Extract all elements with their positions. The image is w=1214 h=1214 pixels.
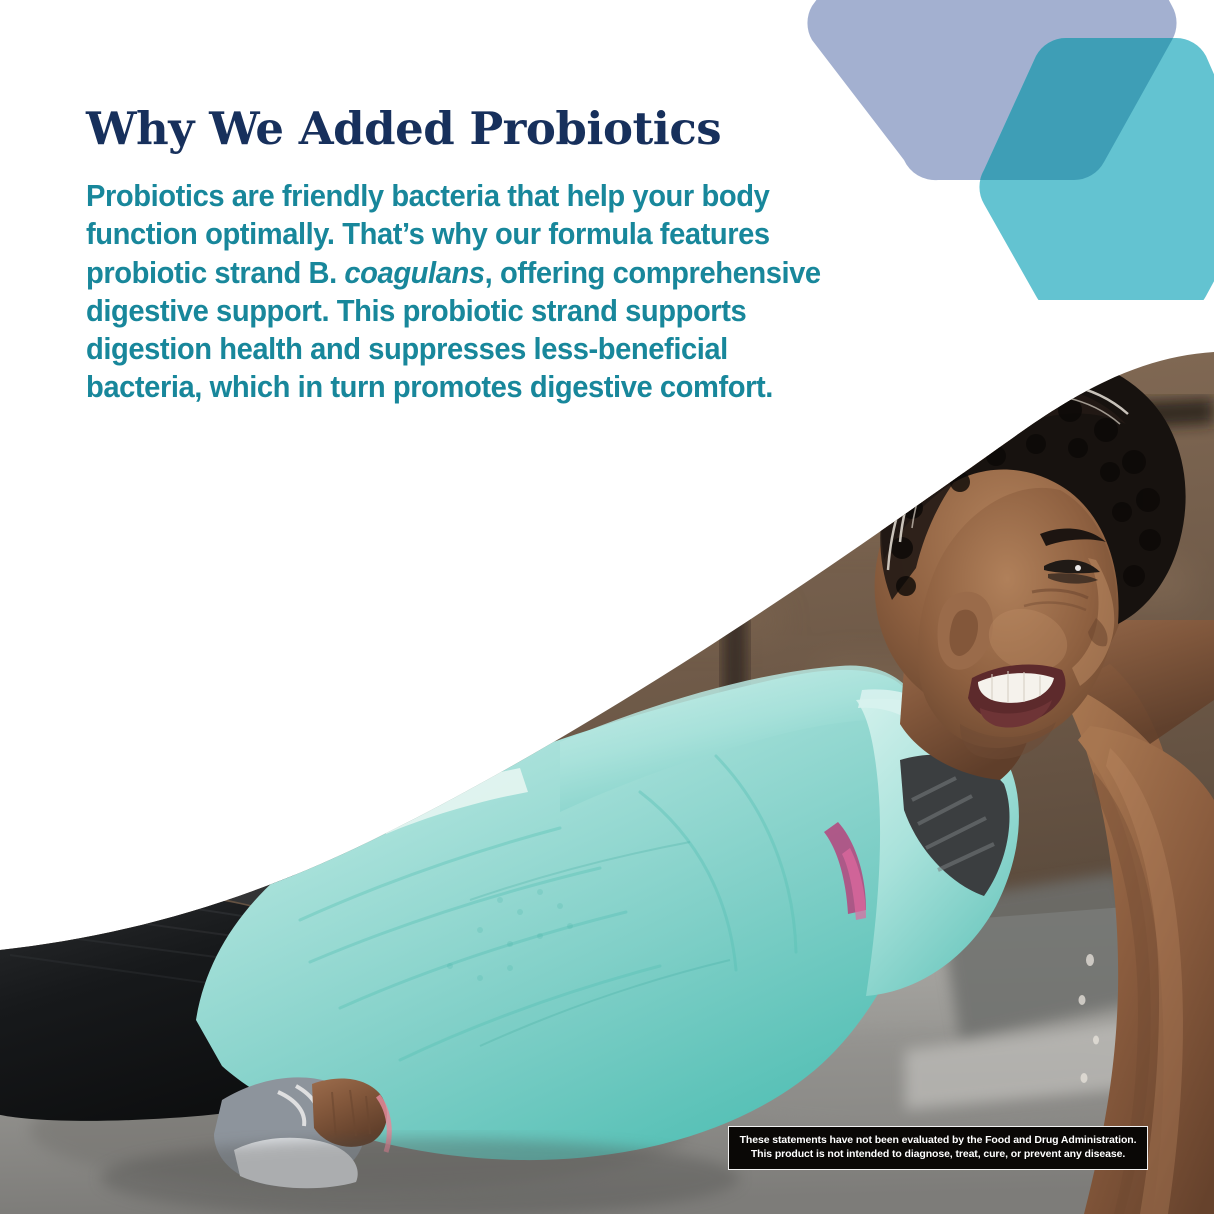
fda-disclaimer-line-1: These statements have not been evaluated… <box>737 1133 1139 1147</box>
page-title: Why We Added Probiotics <box>86 106 876 151</box>
fda-disclaimer-line-2: This product is not intended to diagnose… <box>737 1147 1139 1161</box>
species-name-italic: coagulans <box>344 256 484 290</box>
body-paragraph: Probiotics are friendly bacteria that he… <box>86 177 840 407</box>
marketing-panel: Why We Added Probiotics Probiotics are f… <box>0 0 1214 1214</box>
text-block: Why We Added Probiotics Probiotics are f… <box>86 106 876 407</box>
fda-disclaimer: These statements have not been evaluated… <box>728 1126 1148 1170</box>
